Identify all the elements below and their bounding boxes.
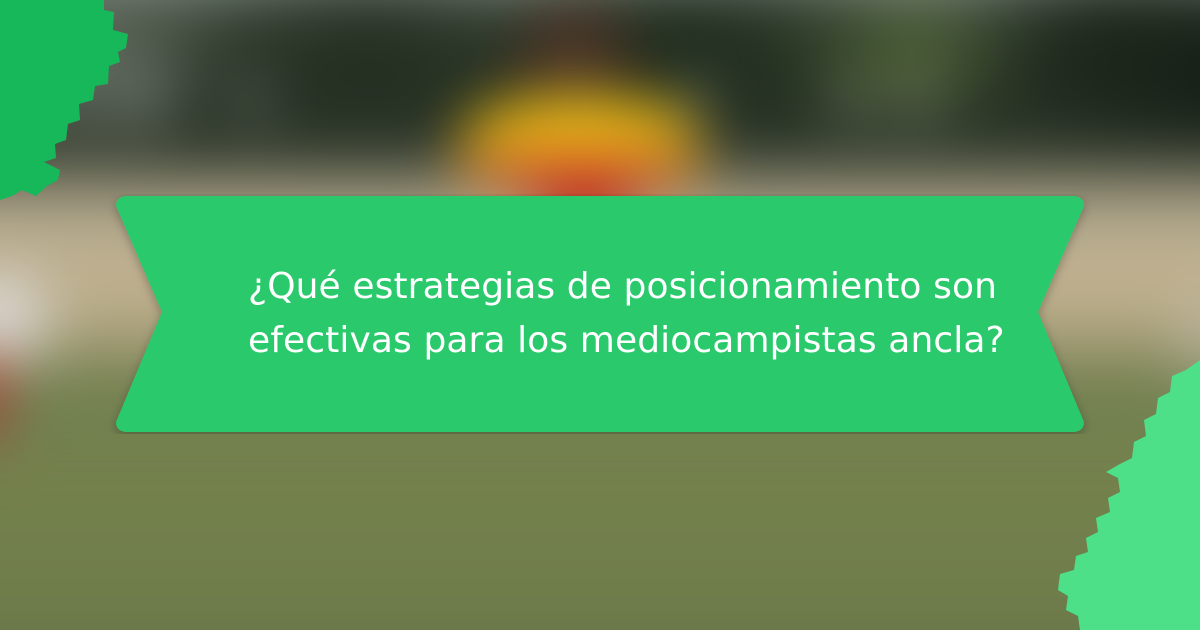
track-post bbox=[912, 82, 927, 135]
track-post bbox=[139, 82, 154, 135]
track-post bbox=[844, 82, 859, 135]
banner-text-block: ¿Qué estrategias de posicionamiento son … bbox=[104, 194, 1096, 434]
question-banner: ¿Qué estrategias de posicionamiento son … bbox=[104, 194, 1096, 434]
question-line-1: ¿Qué estrategias de posicionamiento son bbox=[248, 260, 1096, 314]
question-line-2: efectivas para los mediocampistas ancla? bbox=[248, 314, 1096, 368]
background-figure-left-legs bbox=[0, 353, 3, 458]
track-post bbox=[247, 82, 262, 135]
share-card-canvas: ¿Qué estrategias de posicionamiento son … bbox=[0, 0, 1200, 630]
